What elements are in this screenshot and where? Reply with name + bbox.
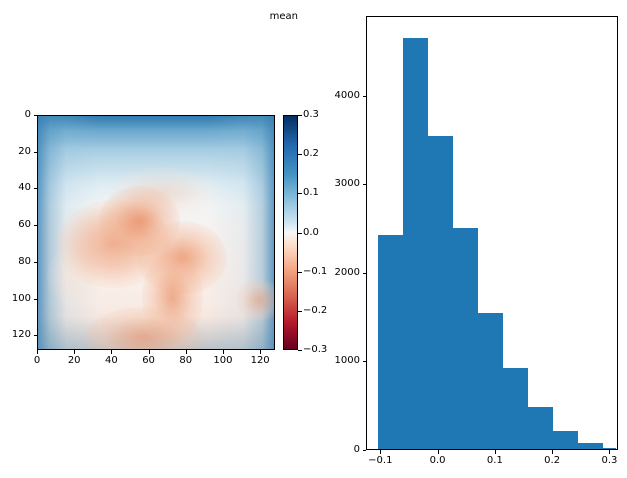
histogram-ytick-mark bbox=[363, 184, 367, 185]
histogram-bar bbox=[453, 228, 478, 449]
heatmap-ytick-label: 20 bbox=[0, 147, 31, 157]
colorbar-tick-mark bbox=[298, 154, 302, 155]
heatmap-ytick-mark bbox=[34, 225, 38, 226]
heatmap-xtick-mark bbox=[149, 350, 150, 354]
heatmap-xtick-mark bbox=[186, 350, 187, 354]
histogram-ytick-mark bbox=[363, 96, 367, 97]
histogram-bar bbox=[478, 313, 503, 449]
colorbar-tick-label: −0.3 bbox=[303, 345, 327, 355]
histogram-bar bbox=[603, 448, 617, 449]
histogram-axes bbox=[366, 16, 618, 450]
matplotlib-figure: 020406080100120020406080100120 mean 0.30… bbox=[0, 0, 627, 478]
heatmap-ytick-label: 0 bbox=[0, 110, 31, 120]
histogram-bar bbox=[528, 407, 553, 449]
heatmap-ytick-mark bbox=[34, 335, 38, 336]
histogram-ytick-mark bbox=[363, 273, 367, 274]
colorbar-tick-mark bbox=[298, 350, 302, 351]
colorbar-tick-label: 0.0 bbox=[303, 228, 319, 238]
colorbar-tick-mark bbox=[298, 193, 302, 194]
heatmap-xtick-mark bbox=[111, 350, 112, 354]
colorbar-axes bbox=[283, 115, 298, 350]
heatmap-ytick-mark bbox=[34, 115, 38, 116]
histogram-ytick-label: 3000 bbox=[324, 179, 360, 189]
heatmap-xtick-label: 0 bbox=[21, 356, 53, 366]
heatmap-warm-blob bbox=[236, 279, 275, 321]
heatmap-xtick-label: 60 bbox=[133, 356, 165, 366]
colorbar-tick-label: 0.3 bbox=[303, 110, 319, 120]
heatmap-ytick-label: 80 bbox=[0, 257, 31, 267]
colorbar-tick-mark bbox=[298, 233, 302, 234]
histogram-xtick-label: −0.1 bbox=[360, 456, 400, 466]
colorbar-tick-label: −0.2 bbox=[303, 306, 327, 316]
heatmap-ytick-mark bbox=[34, 188, 38, 189]
histogram-bar bbox=[553, 431, 578, 449]
histogram-bar bbox=[428, 136, 453, 449]
histogram-ytick-label: 4000 bbox=[324, 91, 360, 101]
histogram-ytick-label: 1000 bbox=[324, 356, 360, 366]
heatmap-xtick-label: 100 bbox=[207, 356, 239, 366]
histogram-xtick-label: 0.0 bbox=[418, 456, 458, 466]
histogram-bar bbox=[503, 368, 528, 449]
histogram-ytick-label: 0 bbox=[324, 445, 360, 455]
colorbar-tick-mark bbox=[298, 311, 302, 312]
heatmap-ytick-mark bbox=[34, 152, 38, 153]
histogram-xtick-mark bbox=[552, 450, 553, 454]
histogram-xtick-label: 0.3 bbox=[589, 456, 627, 466]
heatmap-ytick-label: 100 bbox=[0, 294, 31, 304]
histogram-xtick-mark bbox=[495, 450, 496, 454]
histogram-xtick-label: 0.1 bbox=[475, 456, 515, 466]
heatmap-image bbox=[38, 116, 274, 349]
heatmap-xtick-label: 20 bbox=[58, 356, 90, 366]
histogram-bar bbox=[578, 443, 603, 449]
heatmap-xtick-label: 120 bbox=[244, 356, 276, 366]
heatmap-ytick-label: 60 bbox=[0, 220, 31, 230]
histogram-bar bbox=[378, 235, 403, 449]
colorbar-tick-label: 0.2 bbox=[303, 149, 319, 159]
histogram-ytick-mark bbox=[363, 450, 367, 451]
histogram-xtick-mark bbox=[380, 450, 381, 454]
heatmap-xtick-label: 80 bbox=[170, 356, 202, 366]
histogram-xtick-mark bbox=[438, 450, 439, 454]
colorbar-gradient bbox=[284, 116, 297, 349]
heatmap-xtick-label: 40 bbox=[95, 356, 127, 366]
heatmap-ytick-mark bbox=[34, 262, 38, 263]
histogram-xtick-mark bbox=[609, 450, 610, 454]
histogram-bar bbox=[403, 38, 428, 449]
histogram-ytick-mark bbox=[363, 361, 367, 362]
colorbar-tick-label: 0.1 bbox=[303, 188, 319, 198]
colorbar-tick-mark bbox=[298, 115, 302, 116]
heatmap-xtick-mark bbox=[260, 350, 261, 354]
heatmap-axes bbox=[37, 115, 275, 350]
heatmap-xtick-mark bbox=[74, 350, 75, 354]
colorbar-tick-mark bbox=[298, 272, 302, 273]
colorbar-title: mean bbox=[270, 11, 298, 22]
heatmap-ytick-mark bbox=[34, 299, 38, 300]
heatmap-xtick-mark bbox=[223, 350, 224, 354]
histogram-ytick-label: 2000 bbox=[324, 268, 360, 278]
histogram-bars bbox=[367, 17, 617, 449]
heatmap-ytick-label: 120 bbox=[0, 330, 31, 340]
histogram-xtick-label: 0.2 bbox=[532, 456, 572, 466]
heatmap-ytick-label: 40 bbox=[0, 183, 31, 193]
heatmap-xtick-mark bbox=[37, 350, 38, 354]
